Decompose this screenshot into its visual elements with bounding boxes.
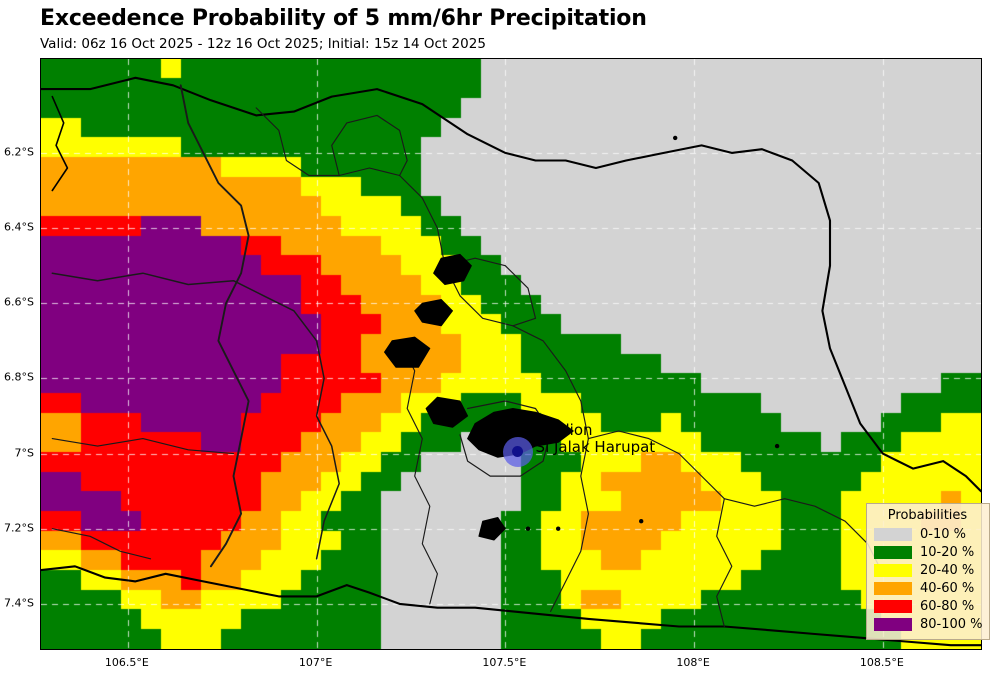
urban-area-purwakarta: [434, 254, 472, 284]
legend-row-3: 40-60 %: [874, 580, 981, 597]
legend-box: Probabilities 0-10 %10-20 %20-40 %40-60 …: [866, 503, 990, 640]
y-tick-label-6: 7.4°S: [4, 596, 34, 609]
x-tick-label-4: 108.5°E: [860, 656, 904, 669]
station-name-line2: Si Jalak Harupat: [536, 439, 656, 456]
legend-label-1: 10-20 %: [920, 545, 974, 560]
legend-swatch-2: [874, 564, 912, 577]
urban-area-soreang: [479, 518, 505, 541]
boundary-regency-karawang: [332, 115, 408, 175]
y-tick-label-0: 6.2°S: [4, 145, 34, 158]
x-tick-label-3: 108°E: [676, 656, 709, 669]
station-marker[interactable]: [503, 437, 533, 467]
legend-label-5: 80-100 %: [920, 617, 983, 632]
urban-area-padalarang: [415, 300, 453, 326]
legend-row-5: 80-100 %: [874, 616, 981, 633]
coastline-inlet-west: [52, 97, 67, 191]
legend-label-0: 0-10 %: [920, 527, 966, 542]
map-plot-area[interactable]: [40, 58, 982, 650]
boundary-regency-bandung-south: [400, 341, 438, 604]
coastline-south: [41, 566, 981, 645]
y-tick-label-5: 7.2°S: [4, 521, 34, 534]
urban-dot-1: [556, 527, 560, 531]
boundary-regency-tasik: [717, 499, 732, 627]
page-title: Exceedence Probability of 5 mm/6hr Preci…: [40, 6, 940, 31]
legend-row-2: 20-40 %: [874, 562, 981, 579]
x-tick-label-0: 106.5°E: [105, 656, 149, 669]
boundary-regency-central-west: [52, 273, 339, 559]
legend-swatch-5: [874, 618, 912, 631]
urban-area-cianjur-east: [385, 337, 430, 367]
urban-area-cimahi: [426, 397, 468, 427]
legend-label-3: 40-60 %: [920, 581, 974, 596]
urban-dot-4: [673, 136, 677, 140]
legend-label-2: 20-40 %: [920, 563, 974, 578]
boundary-regency-garut-west: [551, 439, 589, 612]
legend-row-0: 0-10 %: [874, 526, 981, 543]
legend-swatch-0: [874, 528, 912, 541]
legend-swatch-3: [874, 582, 912, 595]
legend-row-1: 10-20 %: [874, 544, 981, 561]
legend-label-4: 60-80 %: [920, 599, 974, 614]
legend-row-4: 60-80 %: [874, 598, 981, 615]
legend-swatch-4: [874, 600, 912, 613]
y-tick-label-3: 6.8°S: [4, 371, 34, 384]
map-page: Exceedence Probability of 5 mm/6hr Preci…: [0, 0, 1000, 700]
legend-title: Probabilities: [874, 508, 981, 524]
boundary-province-west: [181, 85, 249, 566]
station-name-line1: Stadion: [536, 422, 656, 439]
legend-swatch-1: [874, 546, 912, 559]
x-tick-label-1: 107°E: [299, 656, 332, 669]
boundary-regency-north-central: [256, 108, 588, 439]
legend-entries: 0-10 %10-20 %20-40 %40-60 %60-80 %80-100…: [874, 526, 981, 633]
y-tick-label-2: 6.6°S: [4, 296, 34, 309]
geography-overlay: [41, 59, 981, 649]
x-tick-label-2: 107.5°E: [482, 656, 526, 669]
urban-dot-0: [639, 519, 643, 523]
y-tick-label-4: 7°S: [15, 446, 34, 459]
page-subtitle: Valid: 06z 16 Oct 2025 - 12z 16 Oct 2025…: [40, 36, 940, 52]
urban-dot-2: [526, 527, 530, 531]
boundary-regency-southwest: [52, 529, 150, 559]
urban-dot-3: [775, 444, 779, 448]
y-tick-label-1: 6.4°S: [4, 221, 34, 234]
boundary-regency-sukabumi: [52, 439, 233, 454]
station-marker-label: Stadion Si Jalak Harupat: [536, 422, 656, 456]
